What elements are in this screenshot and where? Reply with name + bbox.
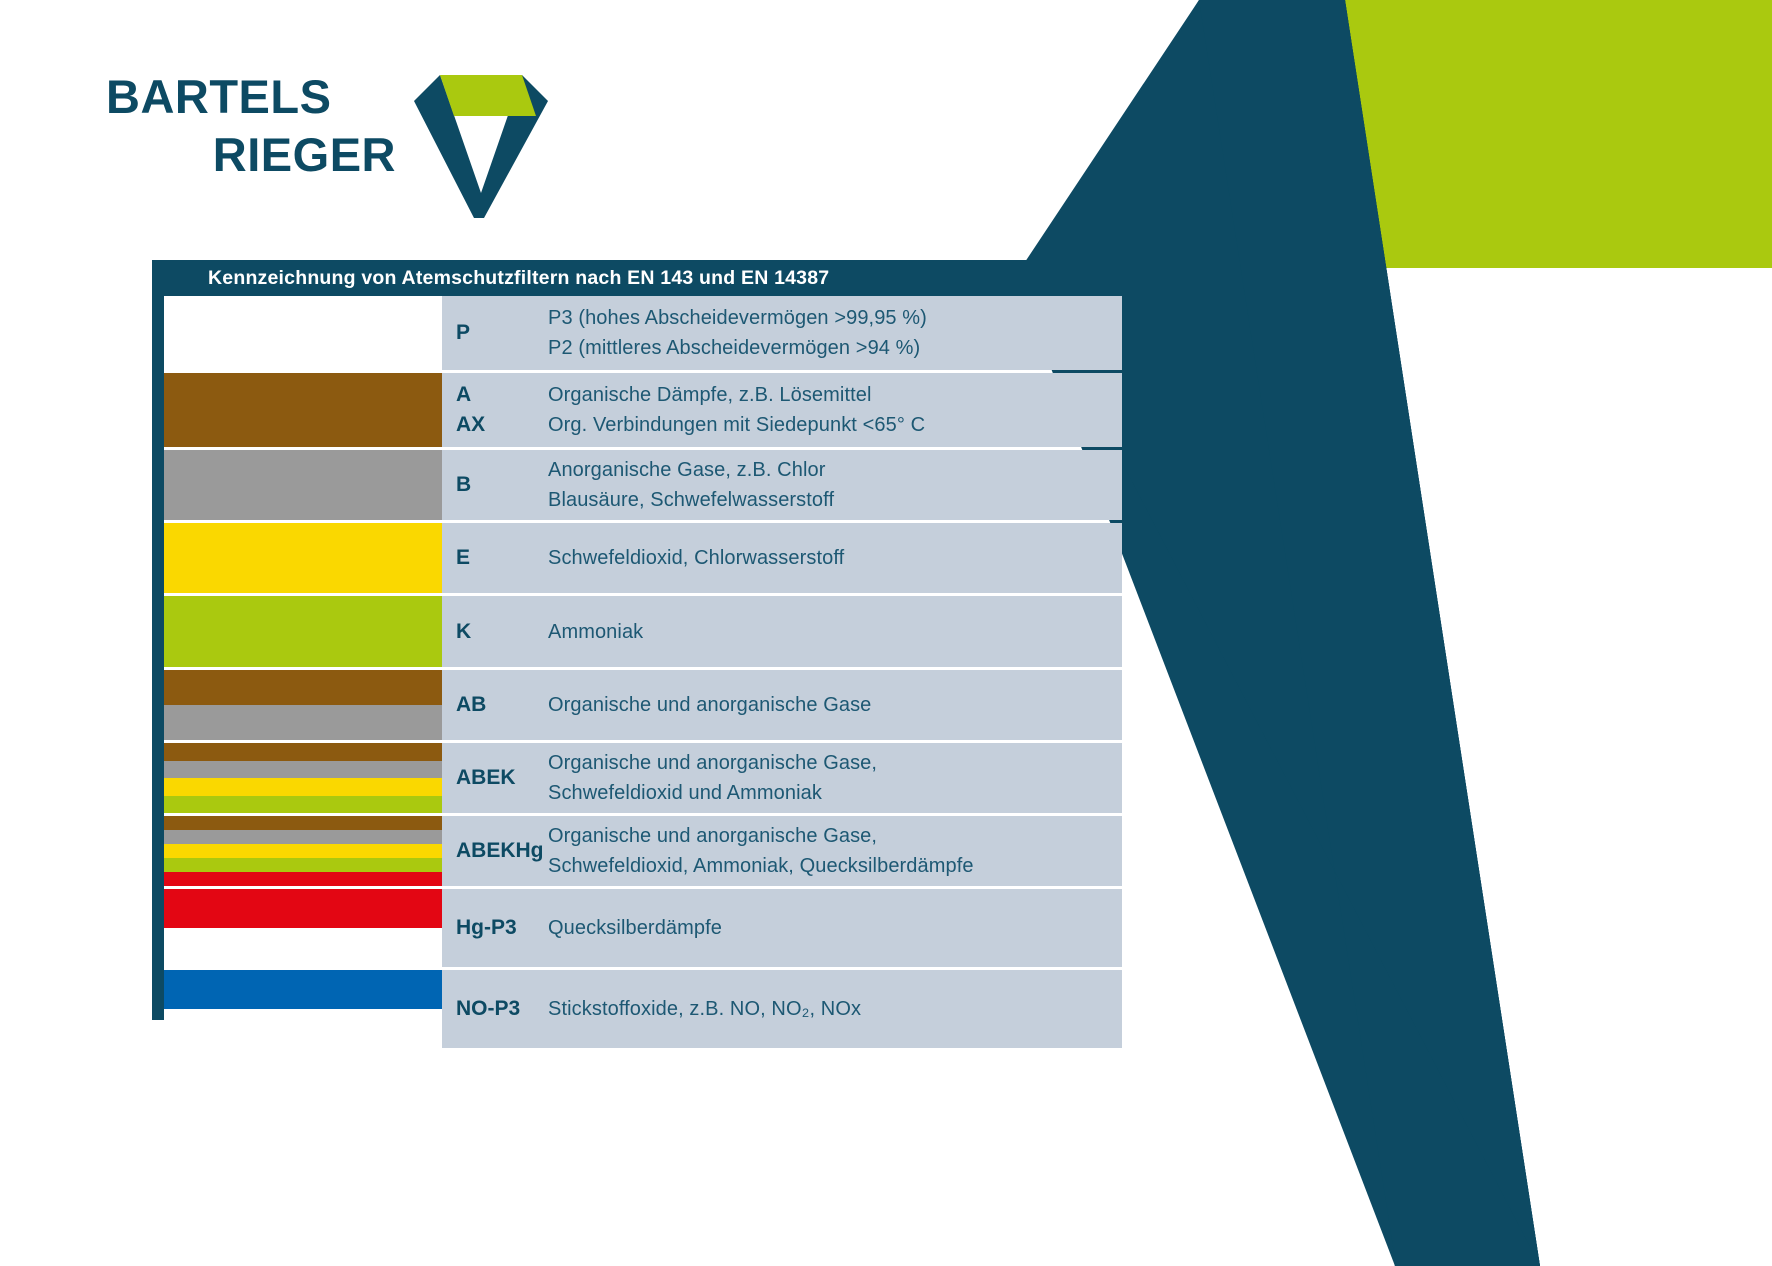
color-swatch-yellow [164, 778, 442, 796]
table-title: Kennzeichnung von Atemschutzfiltern nach… [152, 260, 1122, 296]
color-swatch-group [164, 670, 442, 740]
color-swatch-yellow [164, 523, 442, 593]
row-content: NO-P3Stickstoffoxide, z.B. NO, NO₂, NOx [442, 970, 1122, 1048]
row-content: ABOrganische und anorganische Gase [442, 670, 1122, 740]
row-content: ABEKOrganische und anorganische Gase, Sc… [442, 743, 1122, 813]
color-swatch-grey [164, 450, 442, 520]
table-rows-container: PP3 (hohes Abscheidevermögen >99,95 %) P… [164, 296, 1122, 1020]
filter-code: Hg-P3 [456, 913, 548, 943]
logo-text-bartels: BARTELS [106, 68, 396, 126]
filter-description: Organische und anorganische Gase, Schwef… [548, 748, 877, 808]
table-row: ESchwefeldioxid, Chlorwasserstoff [164, 523, 1122, 593]
color-swatch-group [164, 450, 442, 520]
color-swatch-group [164, 596, 442, 667]
color-swatch-group [164, 970, 442, 1048]
row-content: ESchwefeldioxid, Chlorwasserstoff [442, 523, 1122, 593]
color-swatch-group [164, 816, 442, 886]
row-content: KAmmoniak [442, 596, 1122, 667]
row-content: BAnorganische Gase, z.B. Chlor Blausäure… [442, 450, 1122, 520]
filter-description: Ammoniak [548, 617, 643, 647]
table-row: ABEKOrganische und anorganische Gase, Sc… [164, 743, 1122, 813]
table-row: NO-P3Stickstoffoxide, z.B. NO, NO₂, NOx [164, 970, 1122, 1048]
color-swatch-group [164, 296, 442, 370]
color-swatch-group [164, 743, 442, 813]
table-row: PP3 (hohes Abscheidevermögen >99,95 %) P… [164, 296, 1122, 370]
color-swatch-group [164, 889, 442, 967]
filter-description: Schwefeldioxid, Chlorwasserstoff [548, 543, 844, 573]
filter-description: Stickstoffoxide, z.B. NO, NO₂, NOx [548, 994, 861, 1024]
color-swatch-brown [164, 670, 442, 705]
filter-code: A AX [456, 380, 548, 440]
table-row: A AXOrganische Dämpfe, z.B. Lösemittel O… [164, 373, 1122, 447]
color-swatch-grey [164, 830, 442, 844]
table-row: BAnorganische Gase, z.B. Chlor Blausäure… [164, 450, 1122, 520]
filter-code: ABEK [456, 763, 548, 793]
v-shape-logo-icon [396, 68, 566, 223]
color-swatch-brown [164, 743, 442, 761]
color-swatch-red [164, 889, 442, 928]
filter-code: B [456, 470, 548, 500]
color-swatch-blue [164, 970, 442, 1009]
color-swatch-group [164, 373, 442, 447]
color-swatch-red [164, 872, 442, 886]
company-logo: BARTELS RIEGER [106, 68, 566, 218]
filter-code: E [456, 543, 548, 573]
filter-code: K [456, 617, 548, 647]
color-swatch-grey [164, 705, 442, 740]
filter-description: P3 (hohes Abscheidevermögen >99,95 %) P2… [548, 303, 927, 363]
filter-code: ABEKHg [456, 836, 548, 866]
filter-code: NO-P3 [456, 994, 548, 1024]
color-swatch-grey [164, 761, 442, 779]
color-swatch-brown [164, 373, 442, 447]
filter-code: P [456, 318, 548, 348]
color-swatch-group [164, 523, 442, 593]
row-content: PP3 (hohes Abscheidevermögen >99,95 %) P… [442, 296, 1122, 370]
logo-text-rieger: RIEGER [106, 126, 396, 184]
filter-description: Anorganische Gase, z.B. Chlor Blausäure,… [548, 455, 834, 515]
logo-green-facet [440, 75, 536, 116]
filter-description: Quecksilberdämpfe [548, 913, 722, 943]
filter-description: Organische und anorganische Gase [548, 690, 871, 720]
color-swatch-brown [164, 816, 442, 830]
table-row: ABOrganische und anorganische Gase [164, 670, 1122, 740]
color-swatch-white [164, 928, 442, 967]
table-left-rail [152, 260, 164, 1020]
table-row: KAmmoniak [164, 596, 1122, 667]
filter-code: AB [456, 690, 548, 720]
color-swatch-green [164, 596, 442, 667]
row-content: A AXOrganische Dämpfe, z.B. Lösemittel O… [442, 373, 1122, 447]
filter-description: Organische und anorganische Gase, Schwef… [548, 821, 974, 881]
color-swatch-white [164, 296, 442, 370]
color-swatch-white [164, 1009, 442, 1048]
filter-marking-table: Kennzeichnung von Atemschutzfiltern nach… [152, 260, 1122, 1020]
color-swatch-green [164, 796, 442, 814]
table-row: Hg-P3Quecksilberdämpfe [164, 889, 1122, 967]
color-swatch-yellow [164, 844, 442, 858]
row-content: ABEKHgOrganische und anorganische Gase, … [442, 816, 1122, 886]
logo-wordmark: BARTELS RIEGER [106, 68, 396, 198]
row-content: Hg-P3Quecksilberdämpfe [442, 889, 1122, 967]
table-row: ABEKHgOrganische und anorganische Gase, … [164, 816, 1122, 886]
filter-description: Organische Dämpfe, z.B. Lösemittel Org. … [548, 380, 925, 440]
color-swatch-green [164, 858, 442, 872]
